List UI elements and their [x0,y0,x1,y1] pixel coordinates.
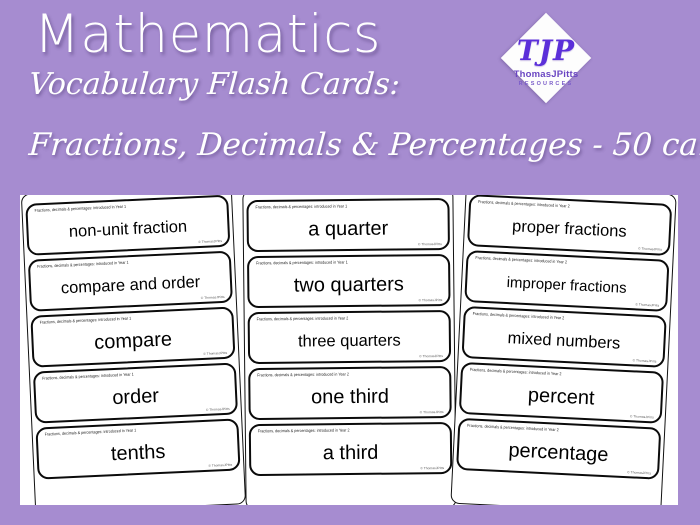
flash-card: Fractions, decimals & percentages: intro… [464,250,669,312]
card-footer-credit: © ThomasJPitts [419,354,443,358]
card-term: three quarters [254,323,445,359]
card-term: compare and order [34,264,226,307]
flash-card: Fractions, decimals & percentages: intro… [467,195,672,256]
card-header-note: Fractions, decimals & percentages: intro… [257,315,442,322]
logo-brand-sub: RESOURCES [497,81,595,87]
card-term: proper fractions [473,207,665,250]
subtitle: Vocabulary Flash Cards: [28,70,401,100]
flash-card: Fractions, decimals & percentages: intro… [248,310,452,364]
card-term: percent [465,375,657,418]
card-term: improper fractions [470,263,662,306]
card-footer-credit: © ThomasJPitts [627,470,651,475]
card-term: a quarter [253,211,444,247]
header-banner: Mathematics Vocabulary Flash Cards: Frac… [0,0,700,192]
flash-card: Fractions, decimals & percentages: intro… [25,195,230,256]
card-footer-credit: © ThomasJPitts [198,239,222,244]
brand-logo: TJP ThomasJPitts RESOURCES [497,12,595,116]
page-title: Mathematics [34,8,381,61]
card-term: tenths [42,432,234,475]
flash-card: Fractions, decimals & percentages: intro… [249,422,453,476]
card-column-middle: Fractions, decimals & percentages: intro… [242,195,460,505]
card-term: two quarters [253,267,444,303]
flash-card-product-cover: Mathematics Vocabulary Flash Cards: Frac… [0,0,700,525]
card-footer-credit: © ThomasJPitts [420,466,444,470]
card-header-note: Fractions, decimals & percentages: intro… [258,427,443,434]
card-footer-credit: © ThomasJPitts [201,295,225,300]
logo-brand-name: ThomasJPitts [497,69,595,80]
flash-card: Fractions, decimals & percentages: intro… [35,418,240,479]
logo-monogram: TJP [497,34,595,67]
card-footer-credit: © ThomasJPitts [208,463,232,468]
card-footer-credit: © ThomasJPitts [419,298,443,302]
card-term: order [39,376,231,419]
card-header-note: Fractions, decimals & percentages: intro… [255,203,440,210]
card-header-note: Fractions, decimals & percentages: intro… [256,259,441,266]
flash-card: Fractions, decimals & percentages: intro… [456,418,661,480]
card-term: one third [254,379,445,415]
flash-card: Fractions, decimals & percentages: intro… [246,198,450,252]
flash-card: Fractions, decimals & percentages: intro… [248,366,452,420]
flash-card: Fractions, decimals & percentages: intro… [461,306,666,368]
card-term: percentage [462,431,654,474]
card-footer-credit: © ThomasJPitts [633,358,657,363]
card-column-left: Fractions, decimals & percentages: intro… [21,195,250,505]
topic-line: Fractions, Decimals & Percentages - 50 c… [28,130,700,161]
card-footer-credit: © ThomasJPitts [206,407,230,412]
card-footer-credit: © ThomasJPitts [203,351,227,356]
card-footer-credit: © ThomasJPitts [638,246,662,251]
card-footer-credit: © ThomasJPitts [418,242,442,246]
flash-card: Fractions, decimals & percentages: intro… [30,307,235,368]
card-term: a third [255,435,446,471]
card-term: non-unit fraction [32,208,224,251]
flash-card: Fractions, decimals & percentages: intro… [28,251,233,312]
flash-card: Fractions, decimals & percentages: intro… [33,362,238,423]
card-header-note: Fractions, decimals & percentages: intro… [257,371,442,378]
card-footer-credit: © ThomasJPitts [635,302,659,307]
flash-card: Fractions, decimals & percentages: intro… [247,254,451,308]
card-footer-credit: © ThomasJPitts [420,410,444,414]
card-footer-credit: © ThomasJPitts [630,414,654,419]
card-term: mixed numbers [468,319,660,362]
cards-preview-sheet: Fractions, decimals & percentages: intro… [20,195,678,505]
flash-card: Fractions, decimals & percentages: intro… [459,362,664,424]
card-column-right: Fractions, decimals & percentages: intro… [451,195,678,505]
card-term: compare [37,320,229,363]
